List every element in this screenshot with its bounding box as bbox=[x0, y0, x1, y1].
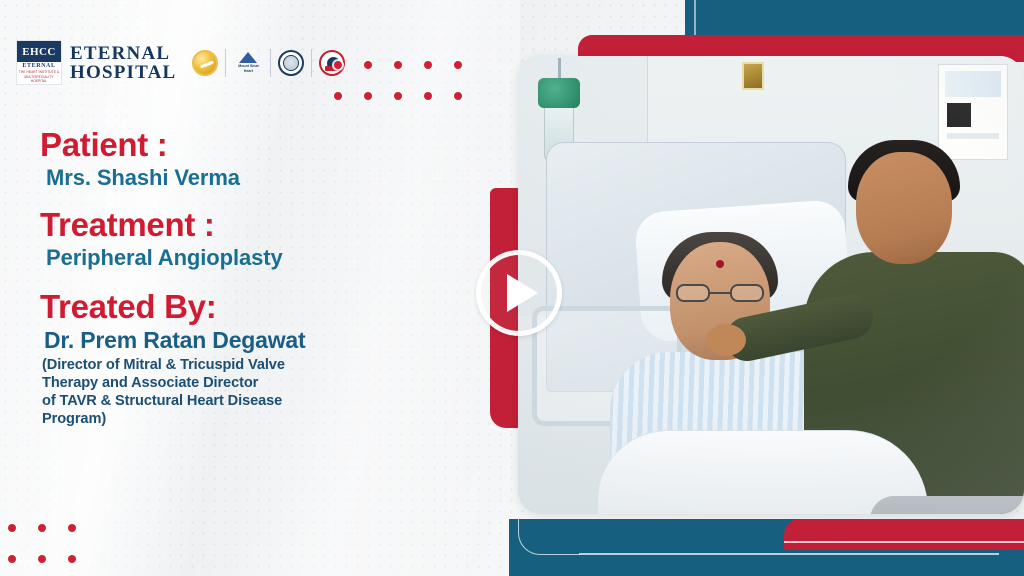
doctor-name: Dr. Prem Ratan Degawat bbox=[40, 326, 460, 354]
dot bbox=[364, 61, 372, 69]
hospital-name: ETERNAL HOSPITAL bbox=[70, 44, 176, 82]
ehcc-tagline: THE HEART INSTITUTE & MULTISPECIALITY HO… bbox=[17, 70, 61, 83]
dot bbox=[8, 555, 16, 563]
play-icon bbox=[507, 274, 538, 312]
dot bbox=[68, 555, 76, 563]
decorative-dot-grid-bottom bbox=[8, 524, 98, 576]
dot bbox=[394, 92, 402, 100]
video-composition bbox=[462, 0, 1024, 576]
photo-vignette bbox=[518, 56, 1024, 514]
badge-divider bbox=[225, 49, 226, 77]
doctor-credentials-line: of TAVR & Structural Heart Disease bbox=[42, 392, 460, 410]
brand-lockup: EHCC ETERNAL THE HEART INSTITUTE & MULTI… bbox=[16, 40, 345, 85]
hospital-name-line1: ETERNAL bbox=[70, 44, 176, 63]
decorative-curve bbox=[518, 519, 580, 555]
gold-medal-badge-icon bbox=[192, 50, 218, 76]
dot bbox=[38, 555, 46, 563]
dot bbox=[334, 61, 342, 69]
dot bbox=[454, 61, 462, 69]
play-button[interactable] bbox=[476, 250, 562, 336]
badge-divider bbox=[270, 49, 271, 77]
ehcc-wordmark: ETERNAL bbox=[17, 62, 61, 70]
patient-row: Patient : Mrs. Shashi Verma bbox=[40, 126, 460, 192]
dot bbox=[334, 92, 342, 100]
dot bbox=[394, 61, 402, 69]
ehcc-logo-mark: EHCC ETERNAL THE HEART INSTITUTE & MULTI… bbox=[16, 40, 62, 85]
decorative-red-block-bottom bbox=[784, 519, 1024, 550]
ehcc-initials: EHCC bbox=[17, 41, 61, 62]
accreditation-badges: Mount Sinai Heart bbox=[192, 49, 345, 77]
dot bbox=[364, 92, 372, 100]
badge-divider bbox=[311, 49, 312, 77]
dot bbox=[38, 524, 46, 532]
treatment-label: Treatment : bbox=[40, 206, 460, 244]
photo-scene bbox=[518, 56, 1024, 514]
mount-sinai-triangle-icon bbox=[239, 52, 257, 63]
patient-name: Mrs. Shashi Verma bbox=[40, 164, 460, 192]
treated-by-label: Treated By: bbox=[40, 288, 460, 326]
dot bbox=[424, 92, 432, 100]
decorative-line bbox=[579, 553, 999, 555]
patient-photo[interactable] bbox=[518, 56, 1024, 514]
doctor-credentials-line: Program) bbox=[42, 410, 460, 428]
doctor-credentials: (Director of Mitral & Tricuspid Valve Th… bbox=[40, 356, 460, 428]
treatment-name: Peripheral Angioplasty bbox=[40, 244, 460, 272]
mount-sinai-heart-badge-icon: Mount Sinai Heart bbox=[233, 52, 263, 73]
doctor-credentials-line: (Director of Mitral & Tricuspid Valve bbox=[42, 356, 460, 374]
dot bbox=[454, 92, 462, 100]
dot bbox=[68, 524, 76, 532]
mount-sinai-label: Mount Sinai Heart bbox=[233, 64, 263, 73]
decorative-line bbox=[784, 541, 1024, 543]
treated-by-row: Treated By: Dr. Prem Ratan Degawat (Dire… bbox=[40, 288, 460, 428]
hospital-name-line2: HOSPITAL bbox=[70, 63, 176, 82]
doctor-credentials-line: Therapy and Associate Director bbox=[42, 374, 460, 392]
dot bbox=[424, 61, 432, 69]
patient-info-block: Patient : Mrs. Shashi Verma Treatment : … bbox=[40, 126, 460, 440]
treatment-row: Treatment : Peripheral Angioplasty bbox=[40, 206, 460, 272]
nabh-seal-badge-icon bbox=[278, 50, 304, 76]
dot bbox=[8, 524, 16, 532]
patient-label: Patient : bbox=[40, 126, 460, 164]
promo-card: EHCC ETERNAL THE HEART INSTITUTE & MULTI… bbox=[0, 0, 1024, 576]
